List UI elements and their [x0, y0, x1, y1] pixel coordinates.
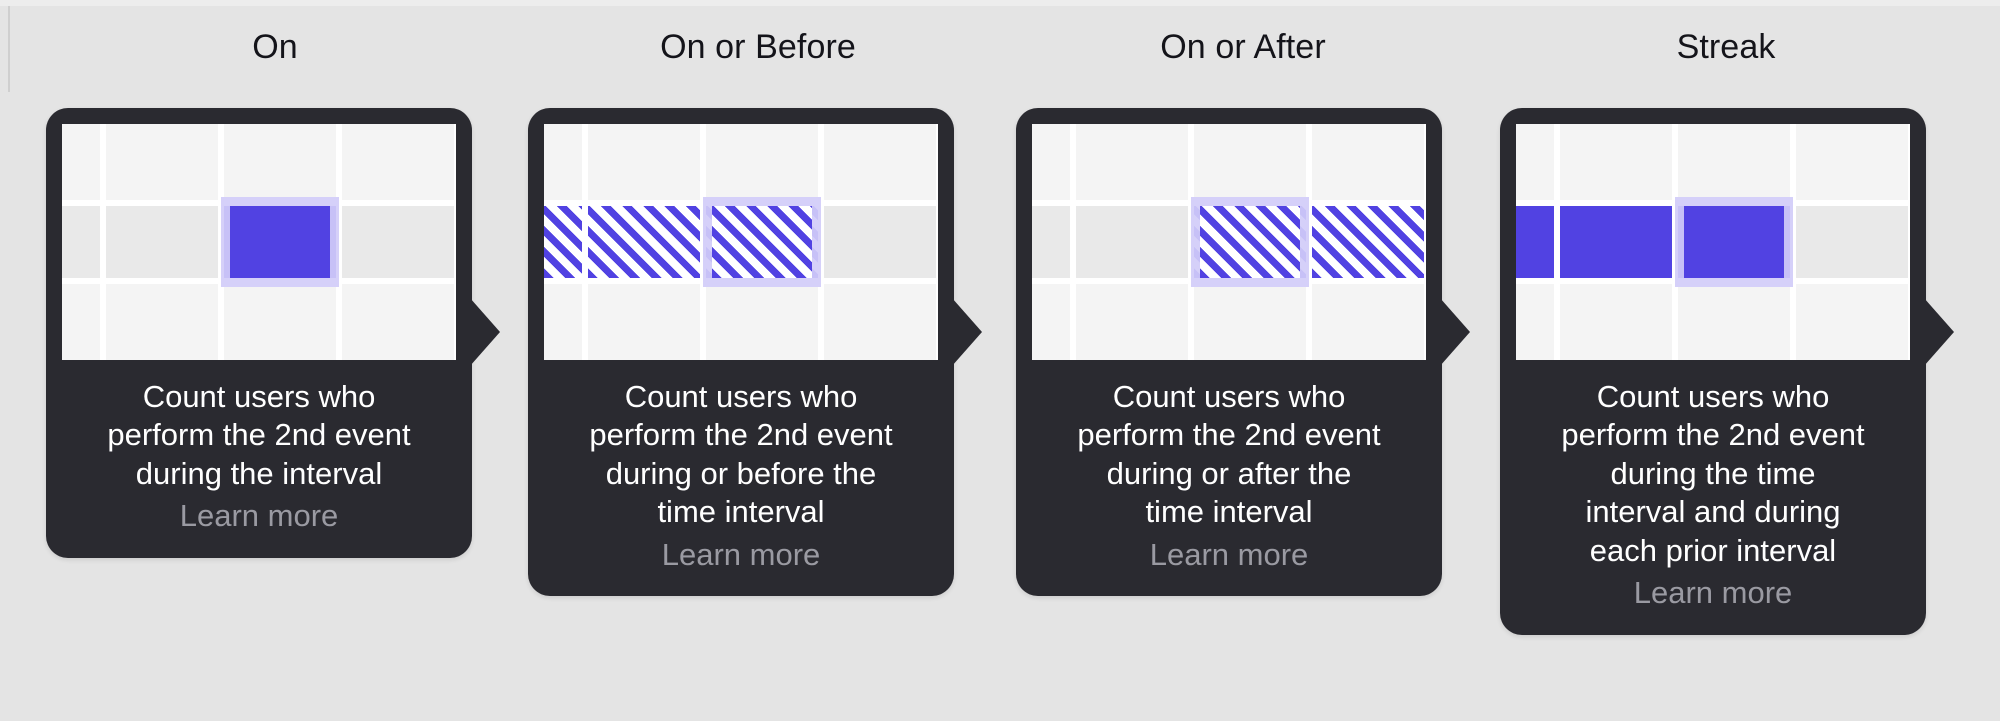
flow-arrow-icon	[1924, 298, 1954, 366]
grid-cell	[106, 124, 218, 200]
grid-cell	[1678, 284, 1790, 360]
grid-cell	[706, 124, 818, 200]
grid-cell	[824, 206, 936, 278]
grid-cell	[1312, 284, 1424, 360]
solid-interval-block	[224, 206, 336, 278]
grid-cell	[106, 284, 218, 360]
solid-interval-block	[1516, 206, 1554, 278]
grid-cell	[1560, 284, 1672, 360]
flow-arrow-icon	[470, 298, 500, 366]
grid-cell	[1560, 124, 1672, 200]
grid-cell	[1032, 124, 1070, 200]
hatched-interval-block	[544, 206, 582, 278]
grid-cell	[544, 284, 582, 360]
grid-cell	[824, 284, 936, 360]
column-header-on: On	[25, 28, 525, 67]
learn-more-link-streak[interactable]: Learn more	[1516, 574, 1910, 612]
hatched-interval-block	[1194, 206, 1306, 278]
grid-cell	[1516, 284, 1554, 360]
illustration-on-or-after	[1032, 124, 1426, 360]
grid-cell	[1516, 124, 1554, 200]
card-on[interactable]: Count users who perform the 2nd event du…	[46, 108, 472, 558]
column-header-on-or-after: On or After	[993, 28, 1493, 67]
solid-interval-block	[1678, 206, 1790, 278]
grid-cell	[1076, 284, 1188, 360]
grid-cell	[1678, 124, 1790, 200]
illustration-on-or-before	[544, 124, 938, 360]
grid-cell	[342, 124, 454, 200]
hatched-interval-block	[706, 206, 818, 278]
learn-more-link-on[interactable]: Learn more	[62, 497, 456, 535]
grid-cell	[706, 284, 818, 360]
card-on-or-after[interactable]: Count users who perform the 2nd event du…	[1016, 108, 1442, 596]
grid-cell	[1194, 284, 1306, 360]
grid-cell	[1076, 124, 1188, 200]
flow-arrow-icon	[952, 298, 982, 366]
card-description-streak: Count users who perform the 2nd event du…	[1516, 378, 1910, 570]
grid-cell	[1796, 206, 1908, 278]
hatched-interval-block	[588, 206, 700, 278]
grid-cell	[1796, 124, 1908, 200]
grid-cell	[588, 284, 700, 360]
comparison-board: OnCount users who perform the 2nd event …	[0, 0, 2000, 721]
illustration-streak	[1516, 124, 1910, 360]
grid-cell	[1032, 284, 1070, 360]
grid-cell	[342, 206, 454, 278]
grid-cell	[224, 284, 336, 360]
grid-cell	[342, 284, 454, 360]
illustration-on	[62, 124, 456, 360]
grid-cell	[588, 124, 700, 200]
learn-more-link-on-or-before[interactable]: Learn more	[544, 536, 938, 574]
grid-cell	[1194, 124, 1306, 200]
grid-cell	[824, 124, 936, 200]
column-header-streak: Streak	[1476, 28, 1976, 67]
grid-cell	[62, 206, 100, 278]
card-description-on: Count users who perform the 2nd event du…	[62, 378, 456, 493]
grid-cell	[544, 124, 582, 200]
grid-cell	[1312, 124, 1424, 200]
solid-interval-block	[1560, 206, 1672, 278]
grid-cell	[1796, 284, 1908, 360]
grid-cell	[224, 124, 336, 200]
grid-cell	[106, 206, 218, 278]
grid-cell	[1076, 206, 1188, 278]
grid-cell	[62, 124, 100, 200]
hatched-interval-block	[1312, 206, 1424, 278]
column-header-on-or-before: On or Before	[508, 28, 1008, 67]
grid-cell	[1032, 206, 1070, 278]
card-description-on-or-before: Count users who perform the 2nd event du…	[544, 378, 938, 532]
card-on-or-before[interactable]: Count users who perform the 2nd event du…	[528, 108, 954, 596]
grid-cell	[62, 284, 100, 360]
card-description-on-or-after: Count users who perform the 2nd event du…	[1032, 378, 1426, 532]
learn-more-link-on-or-after[interactable]: Learn more	[1032, 536, 1426, 574]
flow-arrow-icon	[1440, 298, 1470, 366]
card-streak[interactable]: Count users who perform the 2nd event du…	[1500, 108, 1926, 635]
